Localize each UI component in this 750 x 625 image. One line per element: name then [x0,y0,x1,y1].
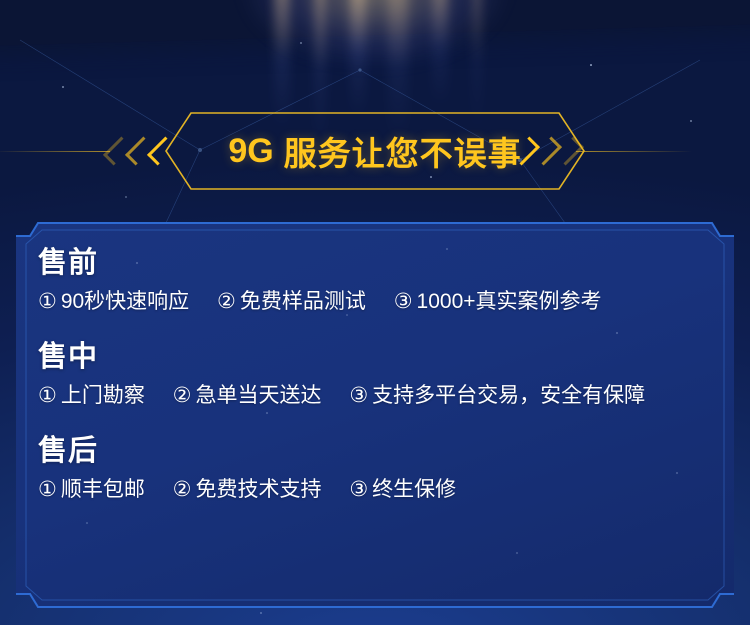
item-label: 免费样品测试 [240,290,366,313]
item-number: ② [217,290,236,313]
item-number: ③ [349,384,368,407]
item-number: ① [38,384,57,407]
item-label: 支持多平台交易，安全有保障 [372,384,645,407]
section-heading: 售后 [38,436,728,468]
item-number: ③ [394,290,413,313]
item-number: ② [173,384,192,407]
item-label: 1000+真实案例参考 [417,290,602,313]
section-items: ①顺丰包邮 ②免费技术支持 ③终生保修 [38,476,728,504]
list-item: ②免费技术支持 [173,478,322,501]
service-section-aftersale: 售后 ①顺丰包邮 ②免费技术支持 ③终生保修 [38,436,728,504]
list-item: ③支持多平台交易，安全有保障 [349,384,645,407]
section-heading: 售前 [38,248,728,280]
item-label: 免费技术支持 [196,478,322,501]
item-label: 上门勘察 [61,384,145,407]
list-item: ①顺丰包邮 [38,478,145,501]
list-item: ①90秒快速响应 [38,290,189,313]
section-items: ①90秒快速响应 ②免费样品测试 ③1000+真实案例参考 [38,288,728,316]
title-banner: 9G 服务让您不误事 [0,112,750,190]
item-number: ③ [349,478,368,501]
promo-poster: 9G 服务让您不误事 售前 [0,0,750,625]
list-item: ②免费样品测试 [217,290,366,313]
list-item: ①上门勘察 [38,384,145,407]
title-main-text: 服务让您不误事 [284,127,522,175]
service-section-presale: 售前 ①90秒快速响应 ②免费样品测试 ③1000+真实案例参考 [38,248,728,316]
section-heading: 售中 [38,342,728,374]
item-label: 顺丰包邮 [61,478,145,501]
service-sections: 售前 ①90秒快速响应 ②免费样品测试 ③1000+真实案例参考 售中 ①上门勘… [38,248,728,505]
item-number: ① [38,478,57,501]
item-label: 终生保修 [372,478,456,501]
chevron-right-icon [510,112,660,190]
list-item: ③终生保修 [349,478,456,501]
section-items: ①上门勘察 ②急单当天送达 ③支持多平台交易，安全有保障 [38,382,728,410]
list-item: ③1000+真实案例参考 [394,290,602,313]
item-number: ② [173,478,192,501]
title-badge: 9G [228,132,273,171]
service-section-insale: 售中 ①上门勘察 ②急单当天送达 ③支持多平台交易，安全有保障 [38,342,728,410]
item-number: ① [38,290,57,313]
item-label: 急单当天送达 [196,384,322,407]
item-label: 90秒快速响应 [61,290,189,313]
list-item: ②急单当天送达 [173,384,322,407]
